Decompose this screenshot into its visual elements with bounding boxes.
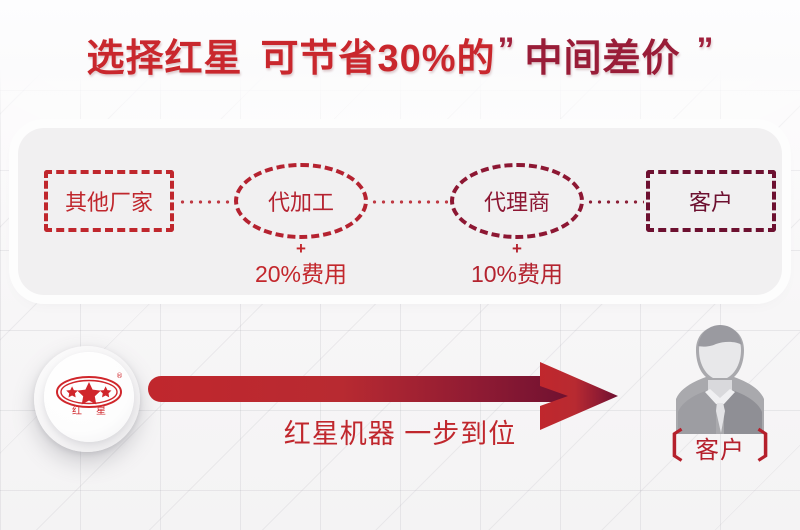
quote-open-mark: ” [498, 31, 515, 70]
customer-label: 客户 [695, 430, 745, 465]
customer-label-group: 〔 客户 〕 [640, 428, 800, 466]
supply-chain-panel: 其他厂家 代加工 代理商 客户 + 20%费用 + 10%费用 [18, 128, 782, 295]
headline: 选择红星 可节省30%的 ” 中间差价 ” [0, 28, 800, 90]
chain-node-customer: 客户 [646, 170, 776, 232]
bracket-left-icon: 〔 [649, 430, 683, 464]
fee-plus-sign: + [211, 241, 391, 257]
chain-node-oem-processing: 代加工 [234, 163, 368, 239]
logo-char-left: 红 [72, 404, 82, 417]
registered-mark: ® [116, 372, 123, 380]
fee-amount-text: 20%费用 [211, 259, 391, 289]
quote-close-mark: ” [697, 31, 714, 70]
fee-plus-sign: + [427, 241, 607, 257]
fee-markup-oem: + 20%费用 [211, 241, 391, 289]
chain-node-label: 代加工 [268, 185, 334, 217]
chain-connector-2 [370, 200, 448, 204]
chain-connector-1 [178, 200, 232, 204]
chain-node-label: 代理商 [484, 185, 550, 217]
customer-avatar-icon [668, 318, 772, 434]
logo-char-right: 星 [96, 405, 106, 417]
headline-part2: 可节省30%的 [260, 40, 495, 78]
hongxing-logo-icon: 红 星 ® [44, 352, 134, 442]
chain-node-other-factory: 其他厂家 [44, 170, 174, 232]
bracket-right-icon: 〕 [757, 430, 791, 464]
chain-node-agent: 代理商 [450, 163, 584, 239]
chain-node-label: 客户 [689, 185, 733, 217]
headline-emphasis: 中间差价 [525, 40, 681, 78]
chain-connector-3 [586, 200, 644, 204]
fee-amount-text: 10%费用 [427, 259, 607, 289]
supply-chain-flow: 其他厂家 代加工 代理商 客户 + 20%费用 + 10%费用 [18, 128, 782, 295]
fee-markup-agent: + 10%费用 [427, 241, 607, 289]
arrow-slogan-label: 红星机器 一步到位 [180, 412, 620, 451]
headline-part1: 选择红星 [86, 40, 242, 78]
chain-node-label: 其他厂家 [65, 185, 153, 217]
poster-canvas: 选择红星 可节省30%的 ” 中间差价 ” 其他厂家 代加工 代理商 客户 [0, 0, 800, 530]
